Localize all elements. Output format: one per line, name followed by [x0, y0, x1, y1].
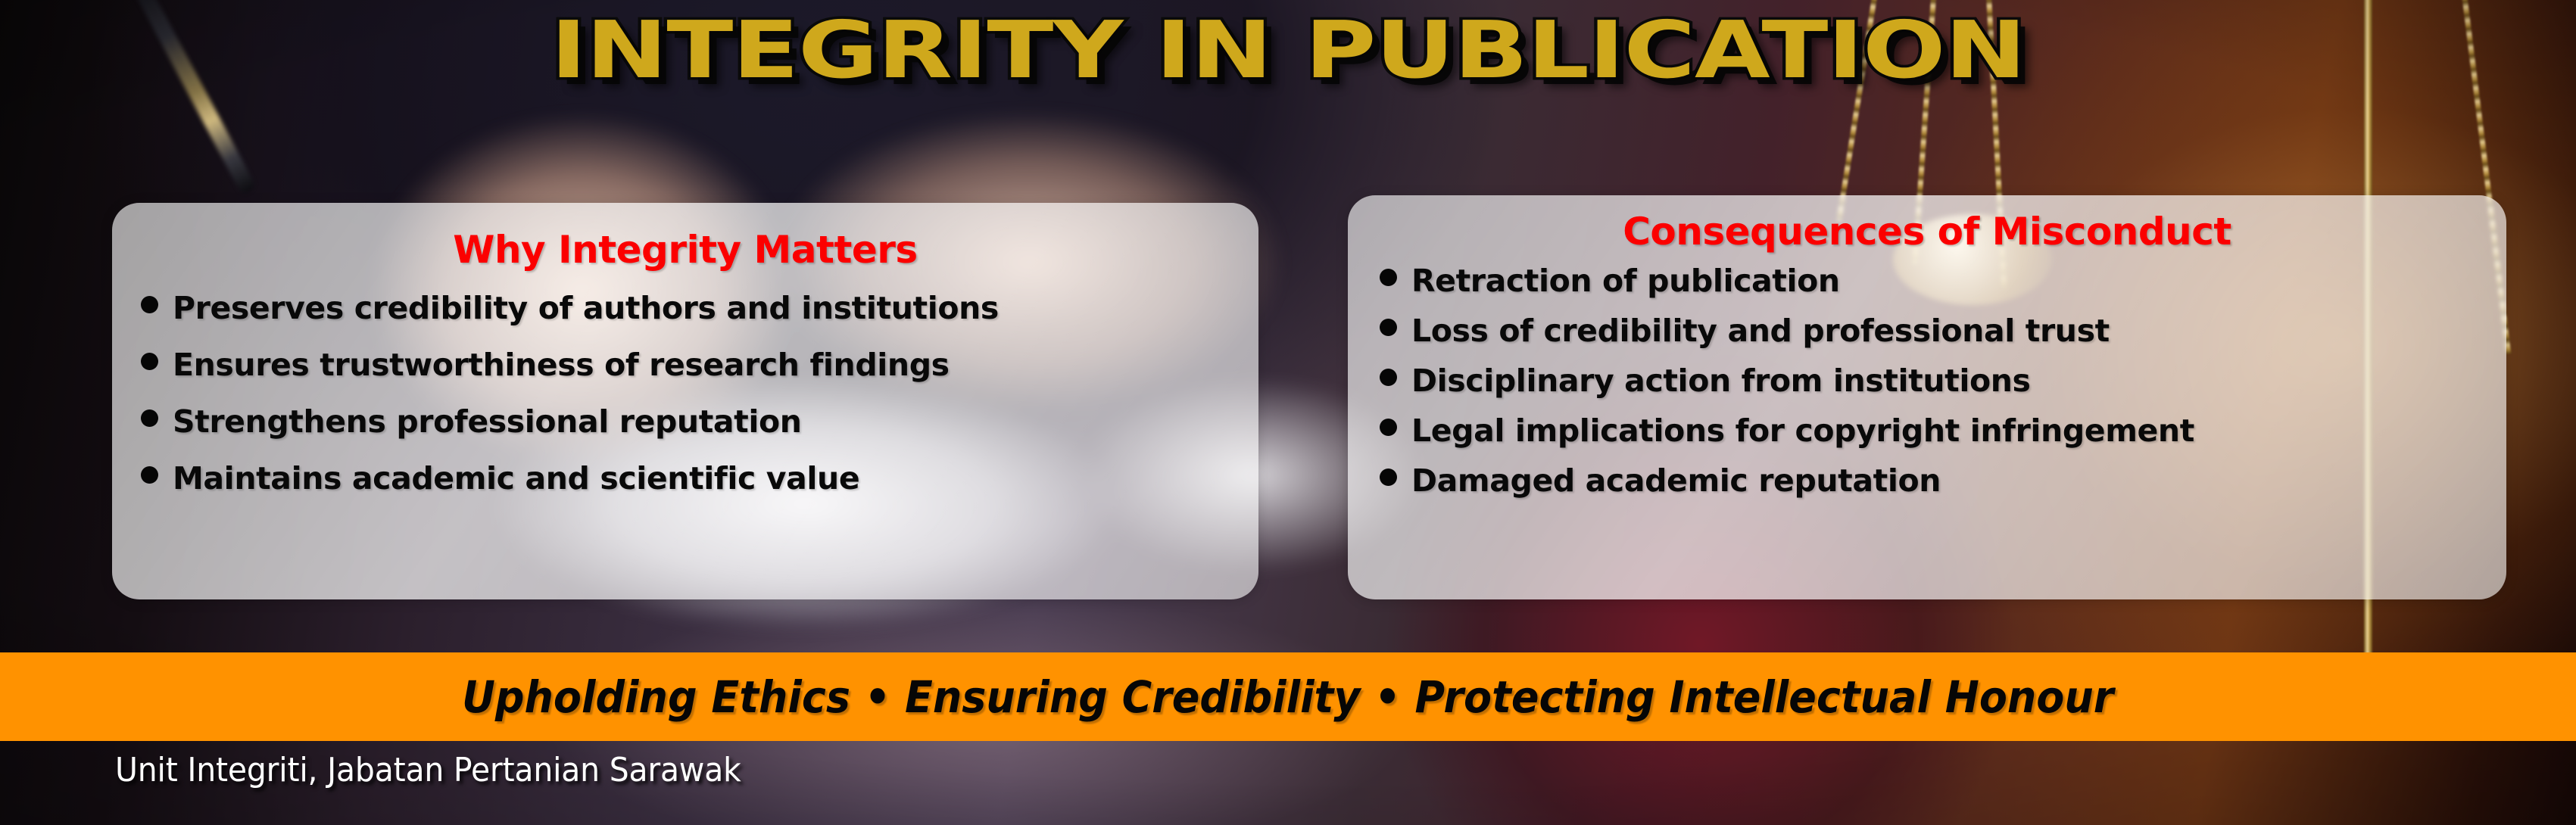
bullet-dot-icon: [1380, 269, 1397, 286]
list-item: Ensures trustworthiness of research find…: [141, 350, 1258, 381]
list-item: Loss of credibility and professional tru…: [1380, 316, 2506, 347]
integrity-banner: INTEGRITY IN PUBLICATION Why Integrity M…: [0, 0, 2576, 825]
list-item-label: Ensures trustworthiness of research find…: [173, 350, 950, 381]
bullet-dot-icon: [141, 409, 158, 427]
list-item-label: Strengthens professional reputation: [173, 406, 802, 437]
list-item: Damaged academic reputation: [1380, 465, 2506, 497]
card-heading-why-integrity-matters: Why Integrity Matters: [112, 203, 1258, 270]
why-integrity-matters-list: Preserves credibility of authors and ins…: [112, 270, 1258, 494]
slogan-text: Upholding Ethics • Ensuring Credibility …: [462, 675, 2113, 719]
list-item-label: Damaged academic reputation: [1411, 465, 1941, 497]
bullet-dot-icon: [1380, 469, 1397, 486]
page-title: INTEGRITY IN PUBLICATION: [0, 11, 2576, 89]
list-item: Disciplinary action from institutions: [1380, 366, 2506, 397]
slogan-strip: Upholding Ethics • Ensuring Credibility …: [0, 652, 2576, 741]
consequences-of-misconduct-list: Retraction of publication Loss of credib…: [1348, 252, 2506, 497]
bullet-dot-icon: [141, 353, 158, 370]
why-integrity-matters-card: Why Integrity Matters Preserves credibil…: [112, 203, 1258, 599]
list-item: Legal implications for copyright infring…: [1380, 416, 2506, 447]
list-item: Retraction of publication: [1380, 266, 2506, 297]
organisation-credit: Unit Integriti, Jabatan Pertanian Sarawa…: [115, 754, 741, 787]
consequences-of-misconduct-card: Consequences of Misconduct Retraction of…: [1348, 195, 2506, 599]
bullet-dot-icon: [1380, 319, 1397, 336]
bullet-dot-icon: [1380, 419, 1397, 436]
bullet-dot-icon: [141, 296, 158, 313]
bullet-dot-icon: [1380, 369, 1397, 386]
list-item: Strengthens professional reputation: [141, 406, 1258, 437]
list-item-label: Maintains academic and scientific value: [173, 463, 859, 494]
list-item: Maintains academic and scientific value: [141, 463, 1258, 494]
list-item-label: Legal implications for copyright infring…: [1411, 416, 2194, 447]
list-item-label: Preserves credibility of authors and ins…: [173, 293, 999, 324]
list-item-label: Loss of credibility and professional tru…: [1411, 316, 2110, 347]
bullet-dot-icon: [141, 466, 158, 484]
list-item-label: Disciplinary action from institutions: [1411, 366, 2031, 397]
list-item-label: Retraction of publication: [1411, 266, 1840, 297]
list-item: Preserves credibility of authors and ins…: [141, 293, 1258, 324]
card-heading-consequences-of-misconduct: Consequences of Misconduct: [1348, 195, 2506, 252]
